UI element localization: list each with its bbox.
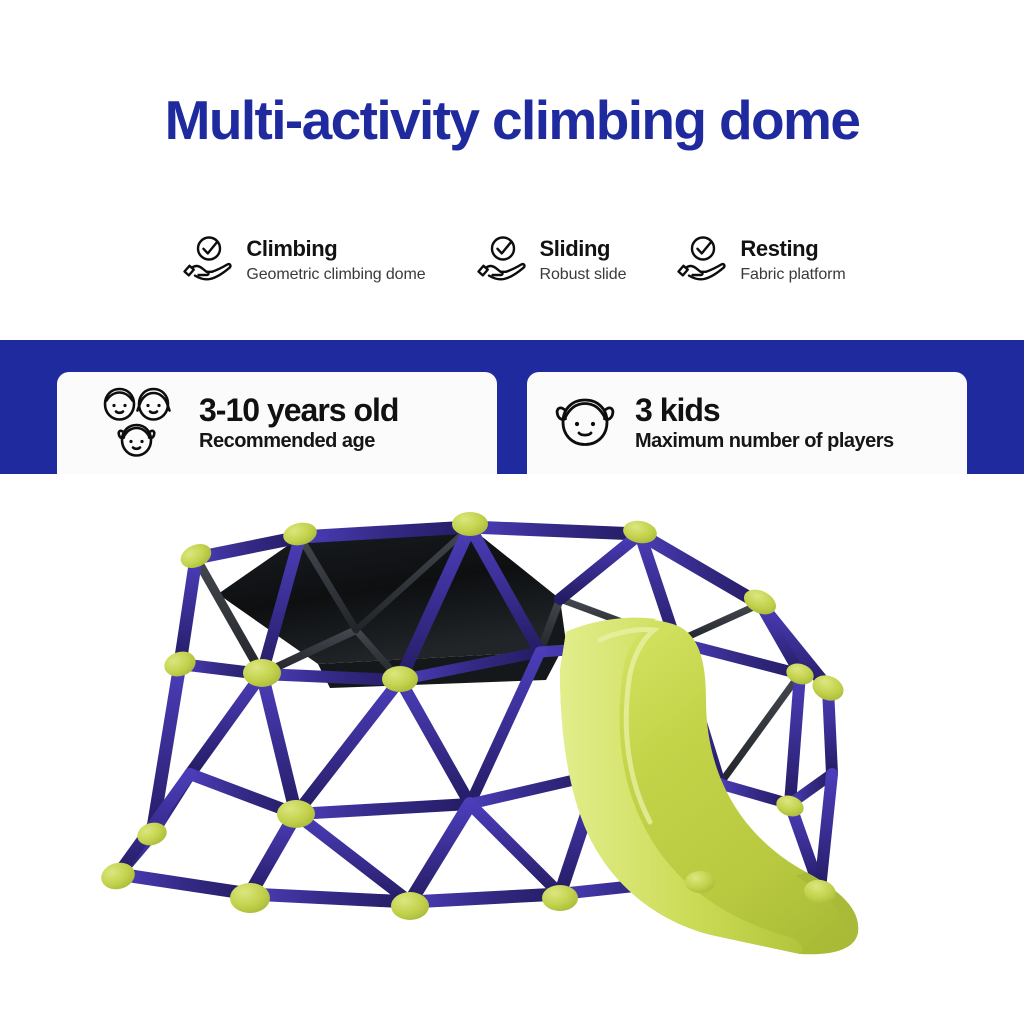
spec-card-players: 3 kids Maximum number of players	[527, 372, 967, 474]
feature-climbing: Climbing Geometric climbing dome	[178, 232, 425, 288]
spec-card-value: 3 kids	[635, 393, 894, 428]
feature-title: Climbing	[246, 236, 425, 261]
hand-check-icon	[472, 232, 528, 288]
spec-band: 3-10 years old Recommended age 3 kids Ma…	[0, 340, 1024, 474]
feature-subtitle: Fabric platform	[740, 265, 845, 284]
feature-sliding: Sliding Robust slide	[472, 232, 627, 288]
kid-face-icon	[549, 388, 623, 458]
feature-resting: Resting Fabric platform	[672, 232, 845, 288]
feature-row: Climbing Geometric climbing dome Sliding…	[0, 232, 1024, 288]
feature-text: Climbing Geometric climbing dome	[246, 236, 425, 283]
spec-card-age: 3-10 years old Recommended age	[57, 372, 497, 474]
page-title: Multi-activity climbing dome	[0, 92, 1024, 150]
page-title-container: Multi-activity climbing dome	[0, 92, 1024, 150]
hand-check-icon	[672, 232, 728, 288]
spec-card-value: 3-10 years old	[199, 393, 398, 428]
feature-title: Resting	[740, 236, 845, 261]
spec-card-label: Maximum number of players	[635, 429, 894, 453]
spec-card-text: 3 kids Maximum number of players	[635, 393, 894, 453]
infographic-page: Multi-activity climbing dome Climbing Ge…	[0, 0, 1024, 1024]
climbing-dome-illustration	[0, 474, 1024, 1024]
feature-subtitle: Geometric climbing dome	[246, 265, 425, 284]
hand-check-icon	[178, 232, 234, 288]
spec-card-text: 3-10 years old Recommended age	[199, 393, 398, 453]
spec-card-label: Recommended age	[199, 429, 398, 453]
three-kids-faces-icon	[93, 384, 185, 462]
feature-subtitle: Robust slide	[540, 265, 627, 284]
feature-title: Sliding	[540, 236, 627, 261]
feature-text: Sliding Robust slide	[540, 236, 627, 283]
feature-text: Resting Fabric platform	[740, 236, 845, 283]
product-image	[0, 474, 1024, 1024]
